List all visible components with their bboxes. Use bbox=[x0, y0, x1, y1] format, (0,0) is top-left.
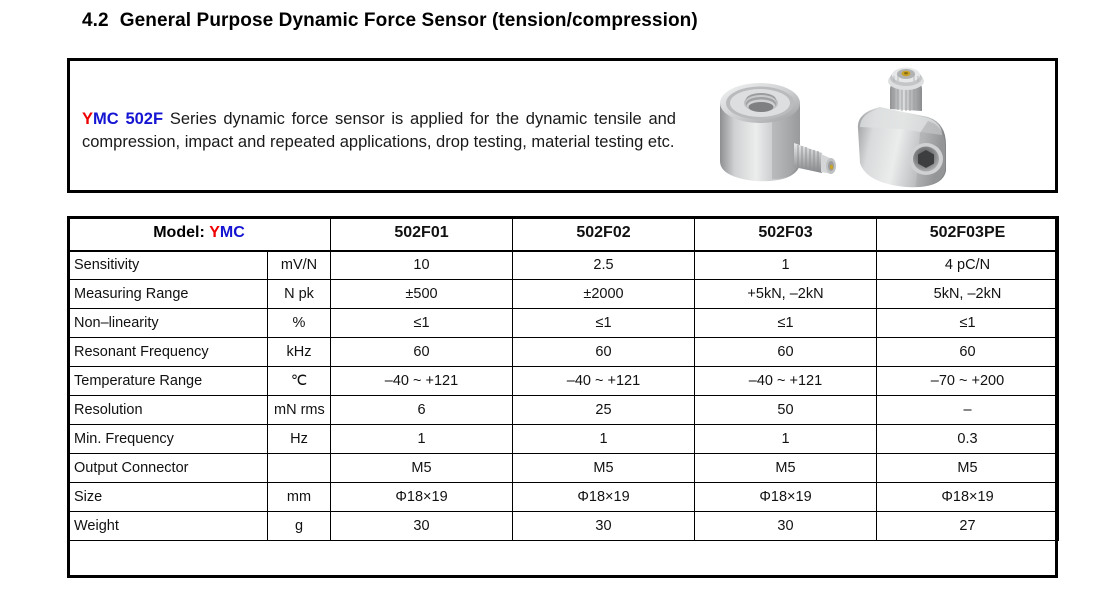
param-name-measuring-range: Measuring Range bbox=[68, 280, 268, 309]
cell-measuring-range-502F03: +5kN, –2kN bbox=[695, 280, 877, 309]
param-unit-weight: g bbox=[268, 512, 331, 541]
cell-temperature-range-502F03: –40 ~ +121 bbox=[695, 367, 877, 396]
cell-weight-502F03: 30 bbox=[695, 512, 877, 541]
cell-output-connector-502F03: M5 bbox=[695, 454, 877, 483]
table-row: Min. Frequency Hz 1 1 1 0.3 bbox=[68, 425, 1059, 454]
table-row: Weight g 30 30 30 27 bbox=[68, 512, 1059, 541]
param-name-resonant-frequency: Resonant Frequency bbox=[68, 338, 268, 367]
cell-weight-502F03PE: 27 bbox=[877, 512, 1059, 541]
param-name-weight: Weight bbox=[68, 512, 268, 541]
cell-min-frequency-502F03PE: 0.3 bbox=[877, 425, 1059, 454]
cell-size-502F03PE: Φ18×19 bbox=[877, 483, 1059, 512]
param-unit-resonant-frequency: kHz bbox=[268, 338, 331, 367]
cell-resolution-502F03PE: – bbox=[877, 396, 1059, 425]
cell-resonant-frequency-502F03: 60 bbox=[695, 338, 877, 367]
cell-size-502F01: Φ18×19 bbox=[331, 483, 513, 512]
cell-output-connector-502F01: M5 bbox=[331, 454, 513, 483]
cell-output-connector-502F03PE: M5 bbox=[877, 454, 1059, 483]
cell-resonant-frequency-502F02: 60 bbox=[513, 338, 695, 367]
force-sensor-top-view-image bbox=[710, 69, 838, 191]
table-row: Sensitivity mV/N 10 2.5 1 4 pC/N bbox=[68, 251, 1059, 280]
cell-size-502F03: Φ18×19 bbox=[695, 483, 877, 512]
cell-temperature-range-502F01: –40 ~ +121 bbox=[331, 367, 513, 396]
table-row: Non–linearity % ≤1 ≤1 ≤1 ≤1 bbox=[68, 309, 1059, 338]
cell-temperature-range-502F03PE: –70 ~ +200 bbox=[877, 367, 1059, 396]
param-name-resolution: Resolution bbox=[68, 396, 268, 425]
cell-non-linearity-502F01: ≤1 bbox=[331, 309, 513, 338]
intro-body-text: Series dynamic force sensor is applied f… bbox=[82, 110, 676, 151]
cell-sensitivity-502F03: 1 bbox=[695, 251, 877, 280]
param-name-size: Size bbox=[68, 483, 268, 512]
model-brand-initial: Y bbox=[209, 224, 220, 241]
table-row: Resonant Frequency kHz 60 60 60 60 bbox=[68, 338, 1059, 367]
param-unit-min-frequency: Hz bbox=[268, 425, 331, 454]
param-name-sensitivity: Sensitivity bbox=[68, 251, 268, 280]
table-row: Output Connector M5 M5 M5 M5 bbox=[68, 454, 1059, 483]
section-title-text: General Purpose Dynamic Force Sensor (te… bbox=[120, 10, 698, 31]
table-row: Temperature Range ℃ –40 ~ +121 –40 ~ +12… bbox=[68, 367, 1059, 396]
cell-resolution-502F01: 6 bbox=[331, 396, 513, 425]
cell-weight-502F01: 30 bbox=[331, 512, 513, 541]
param-name-min-frequency: Min. Frequency bbox=[68, 425, 268, 454]
param-unit-temperature-range: ℃ bbox=[268, 367, 331, 396]
param-unit-non-linearity: % bbox=[268, 309, 331, 338]
column-header-502F01: 502F01 bbox=[331, 217, 513, 251]
cell-sensitivity-502F02: 2.5 bbox=[513, 251, 695, 280]
column-header-502F03: 502F03 bbox=[695, 217, 877, 251]
param-unit-resolution: mN rms bbox=[268, 396, 331, 425]
cell-resolution-502F02: 25 bbox=[513, 396, 695, 425]
cell-temperature-range-502F02: –40 ~ +121 bbox=[513, 367, 695, 396]
specifications-table-container: Model: YMC 502F01 502F02 502F03 502F03PE… bbox=[67, 216, 1058, 541]
cell-non-linearity-502F03: ≤1 bbox=[695, 309, 877, 338]
brand-initial: Y bbox=[82, 110, 93, 128]
cell-measuring-range-502F03PE: 5kN, –2kN bbox=[877, 280, 1059, 309]
section-number: 4.2 bbox=[82, 10, 109, 31]
cell-non-linearity-502F02: ≤1 bbox=[513, 309, 695, 338]
intro-text-container: YMC 502F Series dynamic force sensor is … bbox=[70, 61, 682, 190]
cell-min-frequency-502F01: 1 bbox=[331, 425, 513, 454]
cell-non-linearity-502F03PE: ≤1 bbox=[877, 309, 1059, 338]
cell-resonant-frequency-502F01: 60 bbox=[331, 338, 513, 367]
model-header-cell: Model: YMC bbox=[68, 217, 331, 251]
specifications-table: Model: YMC 502F01 502F02 502F03 502F03PE… bbox=[67, 216, 1059, 541]
model-label: Model: bbox=[153, 224, 205, 241]
table-body: Model: YMC 502F01 502F02 502F03 502F03PE… bbox=[68, 217, 1059, 541]
cell-sensitivity-502F03PE: 4 pC/N bbox=[877, 251, 1059, 280]
force-sensor-side-view-image bbox=[850, 63, 970, 195]
product-image-group bbox=[682, 61, 1055, 190]
cell-measuring-range-502F01: ±500 bbox=[331, 280, 513, 309]
param-name-temperature-range: Temperature Range bbox=[68, 367, 268, 396]
cell-weight-502F02: 30 bbox=[513, 512, 695, 541]
param-unit-size: mm bbox=[268, 483, 331, 512]
param-unit-sensitivity: mV/N bbox=[268, 251, 331, 280]
param-unit-measuring-range: N pk bbox=[268, 280, 331, 309]
column-header-502F02: 502F02 bbox=[513, 217, 695, 251]
cell-sensitivity-502F01: 10 bbox=[331, 251, 513, 280]
table-row: Resolution mN rms 6 25 50 – bbox=[68, 396, 1059, 425]
param-name-output-connector: Output Connector bbox=[68, 454, 268, 483]
param-name-non-linearity: Non–linearity bbox=[68, 309, 268, 338]
page-title: 4.2General Purpose Dynamic Force Sensor … bbox=[82, 10, 698, 32]
param-unit-output-connector bbox=[268, 454, 331, 483]
table-row: Size mm Φ18×19 Φ18×19 Φ18×19 Φ18×19 bbox=[68, 483, 1059, 512]
brand-model: MC 502F bbox=[93, 110, 163, 128]
product-intro-box: YMC 502F Series dynamic force sensor is … bbox=[67, 58, 1058, 193]
table-row: Measuring Range N pk ±500 ±2000 +5kN, –2… bbox=[68, 280, 1059, 309]
column-header-502F03PE: 502F03PE bbox=[877, 217, 1059, 251]
cell-measuring-range-502F02: ±2000 bbox=[513, 280, 695, 309]
cell-output-connector-502F02: M5 bbox=[513, 454, 695, 483]
cell-resonant-frequency-502F03PE: 60 bbox=[877, 338, 1059, 367]
table-header-row: Model: YMC 502F01 502F02 502F03 502F03PE bbox=[68, 217, 1059, 251]
cell-size-502F02: Φ18×19 bbox=[513, 483, 695, 512]
model-brand-rest: MC bbox=[220, 224, 245, 241]
intro-paragraph: YMC 502F Series dynamic force sensor is … bbox=[82, 108, 676, 155]
cell-resolution-502F03: 50 bbox=[695, 396, 877, 425]
cell-min-frequency-502F02: 1 bbox=[513, 425, 695, 454]
cell-min-frequency-502F03: 1 bbox=[695, 425, 877, 454]
